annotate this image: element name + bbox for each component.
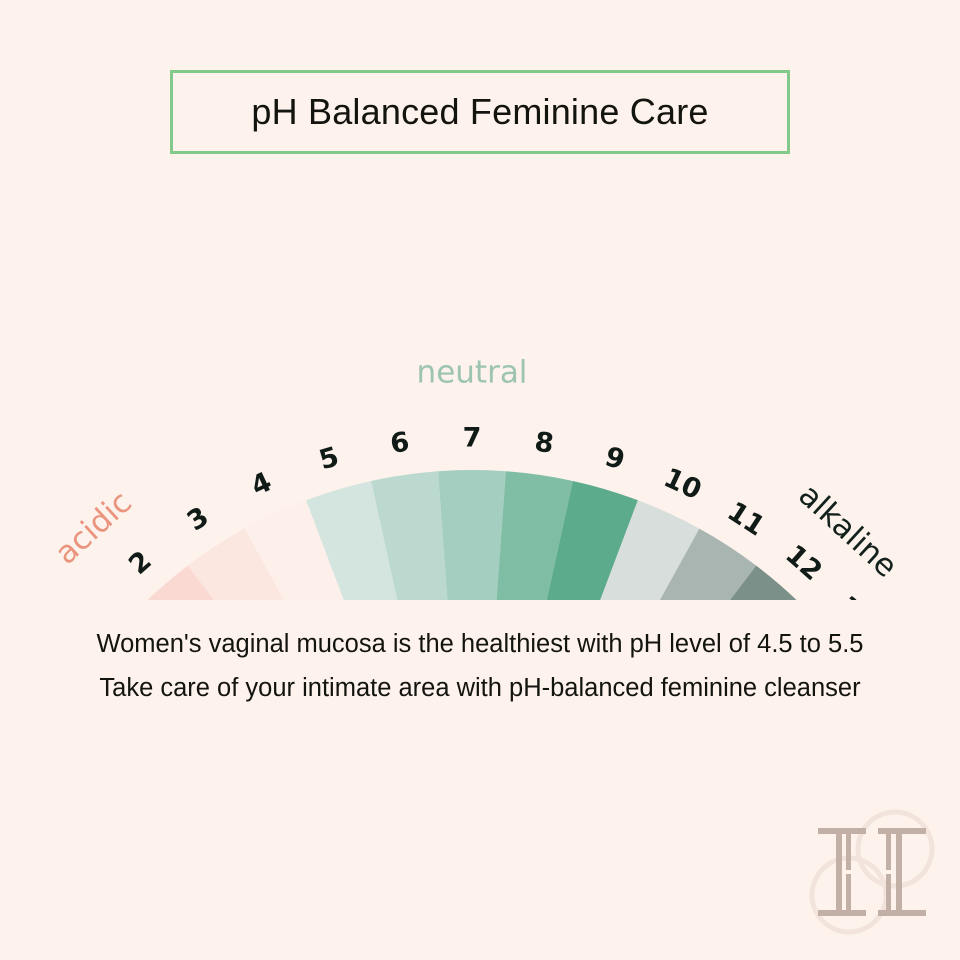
ph-zone-label-neutral: neutral — [417, 355, 528, 391]
ph-segment-group — [57, 470, 887, 600]
ph-tick-label-8: 8 — [533, 427, 556, 460]
ph-tick-label-7: 7 — [463, 423, 482, 454]
title-box: pH Balanced Feminine Care — [170, 70, 790, 154]
ph-segment-7 — [438, 470, 506, 600]
watermark-pillars-icon — [818, 828, 926, 916]
ph-tick-label-6: 6 — [388, 427, 411, 460]
brand-logo-watermark — [802, 802, 942, 942]
ph-tick-label-1: 1 — [72, 597, 108, 600]
ph-tick-label-11: 11 — [722, 496, 770, 542]
ph-tick-label-5: 5 — [316, 441, 343, 476]
ph-tick-label-4: 4 — [246, 466, 276, 502]
ph-tick-label-3: 3 — [182, 501, 215, 537]
body-line-2: Take care of your intimate area with pH-… — [0, 666, 960, 710]
infographic-canvas: pH Balanced Feminine Care 01234567891011… — [0, 0, 960, 960]
ph-tick-label-13: 13 — [830, 590, 878, 600]
ph-scale-chart: 01234567891011121314 acidicneutralalkali… — [0, 170, 960, 600]
page-title: pH Balanced Feminine Care — [251, 91, 708, 133]
body-copy: Women's vaginal mucosa is the healthiest… — [0, 622, 960, 710]
ph-tick-label-10: 10 — [659, 462, 706, 506]
ph-tick-label-12: 12 — [779, 539, 828, 587]
ph-tick-label-9: 9 — [601, 441, 628, 476]
ph-tick-label-2: 2 — [123, 545, 158, 581]
body-line-1: Women's vaginal mucosa is the healthiest… — [0, 622, 960, 666]
